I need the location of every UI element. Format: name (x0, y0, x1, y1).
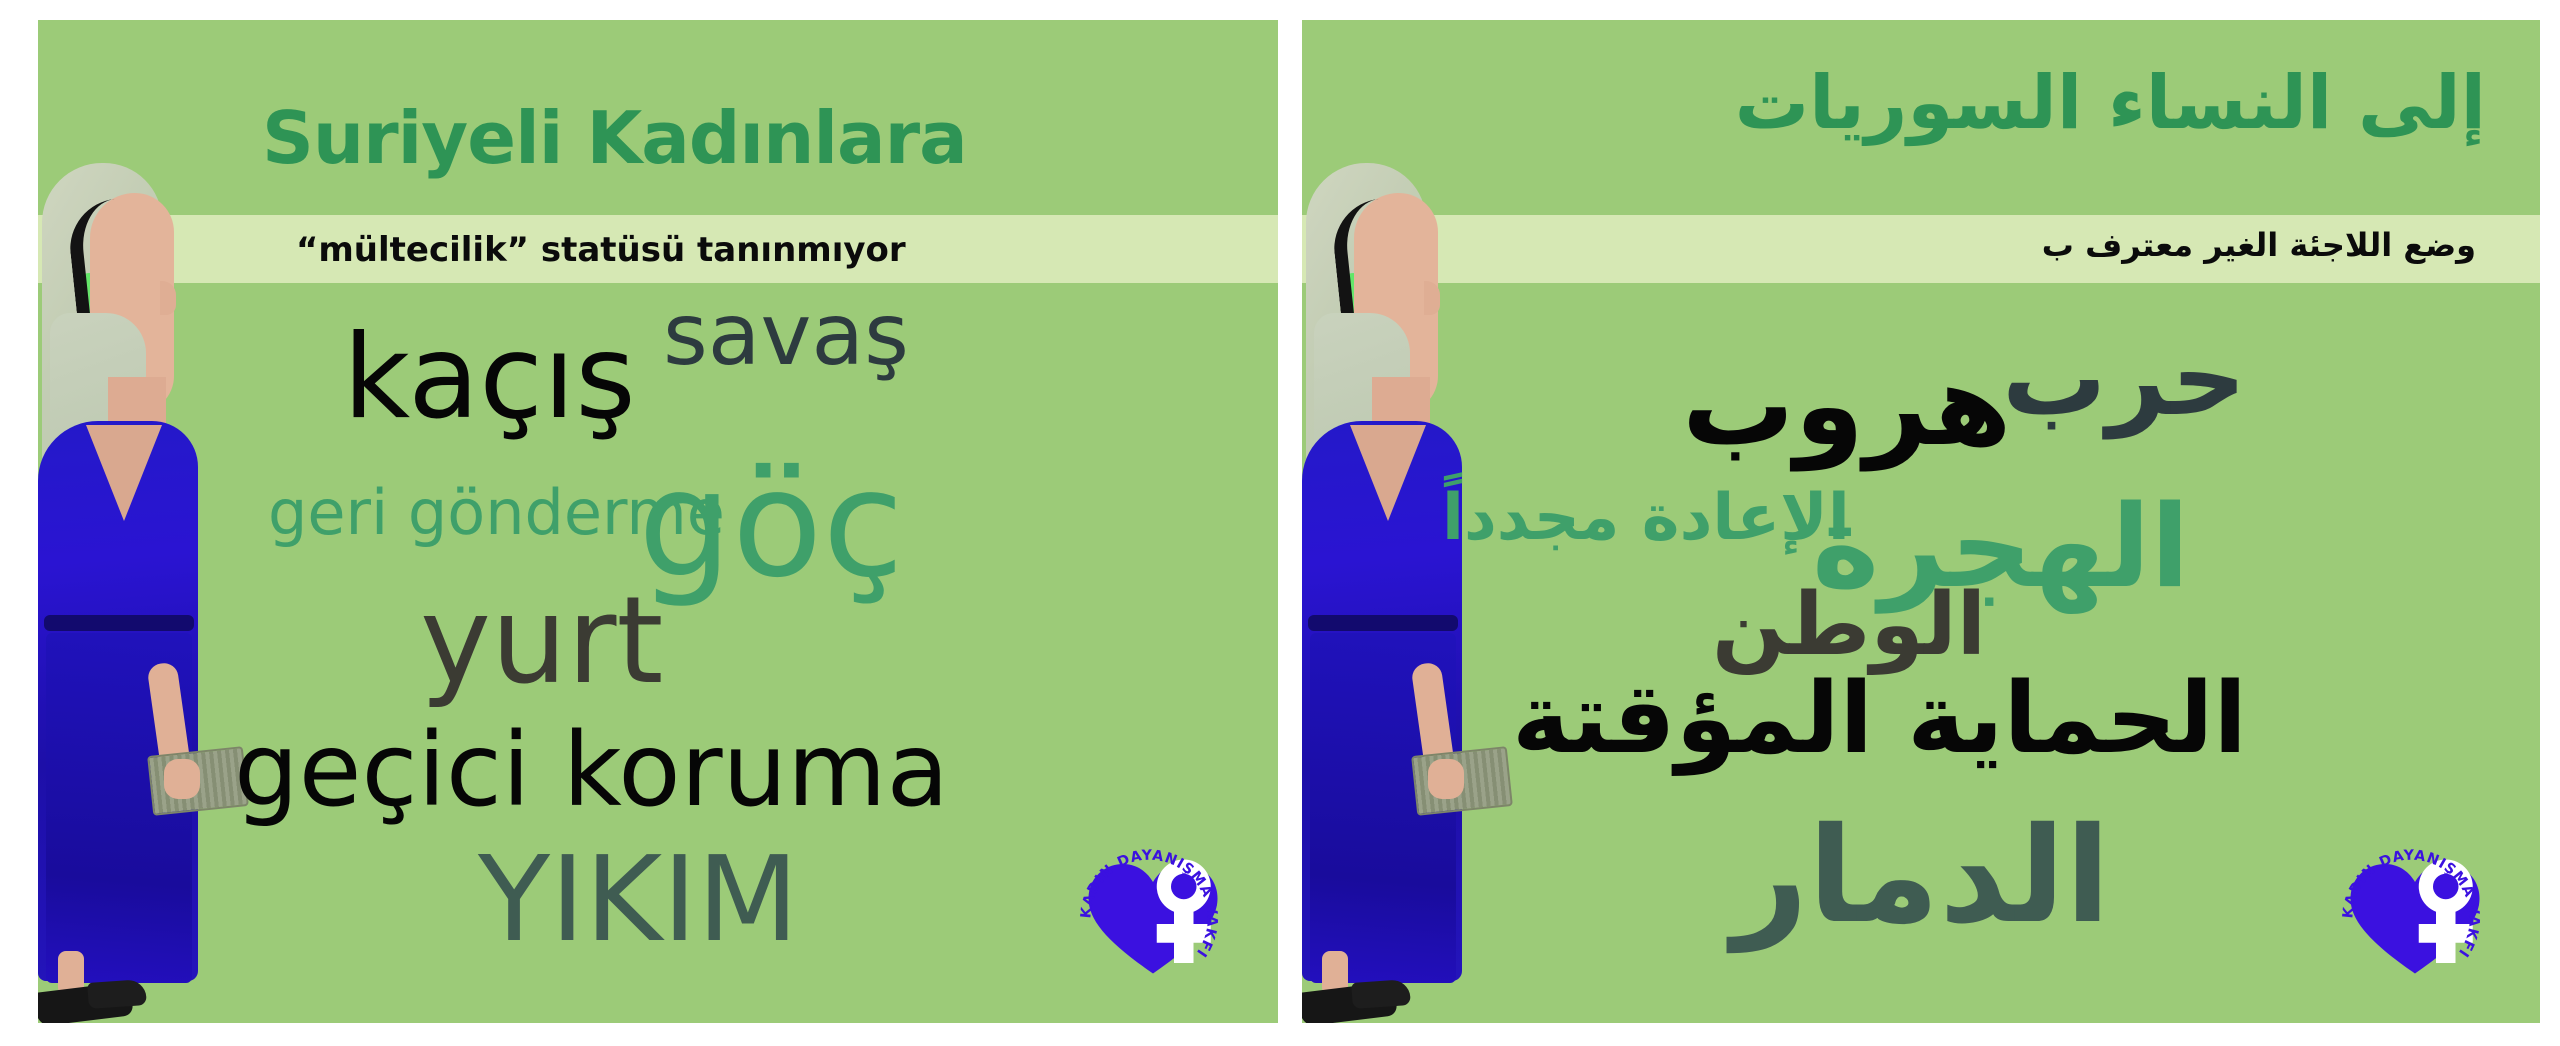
word-kacis: kaçış (343, 320, 636, 436)
panel-subtitle-arabic: وضع اللاجئة الغير معترف ب (2042, 226, 2476, 264)
word-al-iaada-mujaddadan: الإعادة مجدداً (1442, 486, 1850, 550)
word-al-watan: الوطن (1712, 582, 1986, 668)
word-yikim: YIKIM (478, 840, 799, 958)
panel-arabic: إلى النساء السوريات وضع اللاجئة الغير مع… (1302, 20, 2540, 1023)
word-harb: حرب (2002, 326, 2246, 430)
dress-waistline (1308, 615, 1458, 631)
panel-title-turkish: Suriyeli Kadınlara (262, 96, 967, 180)
word-goc: göç (638, 450, 904, 598)
panel-title-arabic: إلى النساء السوريات (1735, 60, 2486, 146)
panel-turkish: Suriyeli Kadınlara “mültecilik” statüsü … (38, 20, 1278, 1023)
organization-logo-arabic[interactable]: KADIN DAYANIŞMA VAKFI (2340, 840, 2490, 990)
word-gecici-koruma: geçici koruma (234, 720, 949, 822)
hand-shape (1428, 759, 1464, 799)
panel-subtitle-turkish: “mültecilik” statüsü tanınmıyor (296, 230, 906, 270)
word-huroob: هروب (1682, 350, 2012, 462)
word-savas: savaş (663, 292, 909, 378)
shoe-shape-back (1351, 979, 1411, 1009)
word-al-damar: الدمار (1732, 810, 2110, 942)
hand-shape (164, 759, 200, 799)
syrian-woman-illustration-arabic (1302, 163, 1498, 1023)
word-yurt: yurt (420, 582, 663, 702)
dress-vneck (1350, 425, 1426, 521)
syrian-woman-illustration (38, 163, 234, 1023)
dress-waistline (44, 615, 194, 631)
poster-canvas: Suriyeli Kadınlara “mültecilik” statüsü … (0, 0, 2560, 1046)
word-al-himaya-muaqqata: الحماية المؤقتة (1512, 670, 2247, 768)
shoe-shape-back (87, 979, 147, 1009)
dress-vneck (86, 425, 162, 521)
organization-logo-turkish[interactable]: KADIN DAYANIŞMA VAKFI (1078, 840, 1228, 990)
